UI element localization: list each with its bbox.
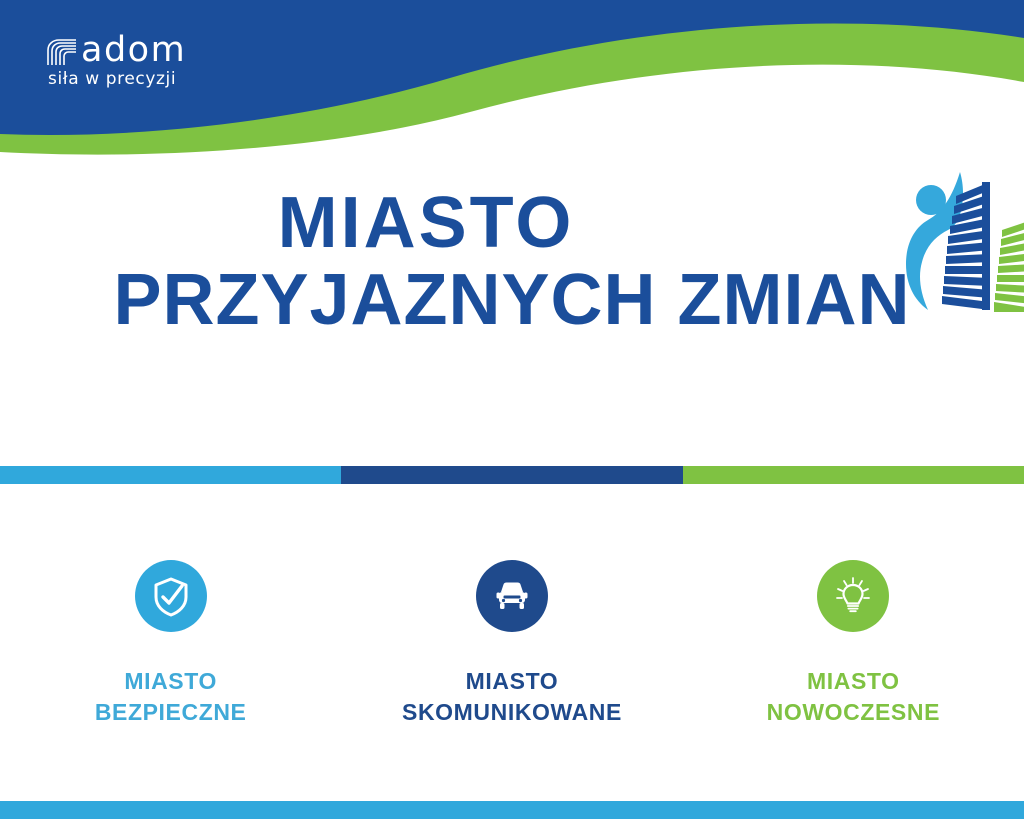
bottom-accent-bar (0, 801, 1024, 819)
feature-label-line2: BEZPIECZNE (95, 699, 247, 725)
city-person-buildings-emblem (898, 172, 1024, 312)
feature-label-line1: MIASTO (807, 668, 900, 694)
feature-label-line1: MIASTO (124, 668, 217, 694)
car-front-icon (491, 575, 533, 617)
feature-list: MIASTO BEZPIECZNE MIAST (0, 560, 1024, 728)
shield-check-icon (149, 574, 193, 618)
brand-name: adom (81, 35, 186, 66)
page-title-line1: MIASTO (278, 183, 575, 263)
feature-item-modern-city[interactable]: MIASTO NOWOCZESNE (683, 560, 1024, 728)
emblem-green-tower (994, 220, 1024, 312)
emblem-artwork (898, 172, 1024, 312)
feature-item-connected-city[interactable]: MIASTO SKOMUNIKOWANE (341, 560, 682, 728)
headline-block: MIASTO (0, 180, 1024, 340)
divider-segment-dark-blue (341, 466, 683, 484)
feature-icon-badge (476, 560, 548, 632)
feature-label-safe-city: MIASTO BEZPIECZNE (95, 666, 247, 728)
brand-logo-row: adom (46, 26, 316, 66)
feature-label-line1: MIASTO (466, 668, 559, 694)
feature-label-line2: NOWOCZESNE (767, 699, 940, 725)
divider-segment-light-blue (0, 466, 341, 484)
lightbulb-icon (831, 574, 875, 618)
feature-label-connected-city: MIASTO SKOMUNIKOWANE (402, 666, 622, 728)
feature-icon-badge (135, 560, 207, 632)
brand-logo[interactable]: adom siła w precyzji (46, 26, 316, 96)
feature-label-line2: SKOMUNIKOWANE (402, 699, 622, 725)
feature-item-safe-city[interactable]: MIASTO BEZPIECZNE (0, 560, 341, 728)
divider-segment-green (683, 466, 1024, 484)
feature-label-modern-city: MIASTO NOWOCZESNE (767, 666, 940, 728)
headline-line1-wrap: MIASTO (355, 180, 670, 266)
tricolor-divider (0, 466, 1024, 484)
page-title-line2: PRZYJAZNYCH ZMIAN (0, 260, 1024, 340)
poster-canvas: adom siła w precyzji MIASTO (0, 0, 1024, 819)
feature-icon-badge (817, 560, 889, 632)
r-stripes-icon (46, 36, 80, 66)
brand-tagline: siła w precyzji (48, 69, 316, 89)
